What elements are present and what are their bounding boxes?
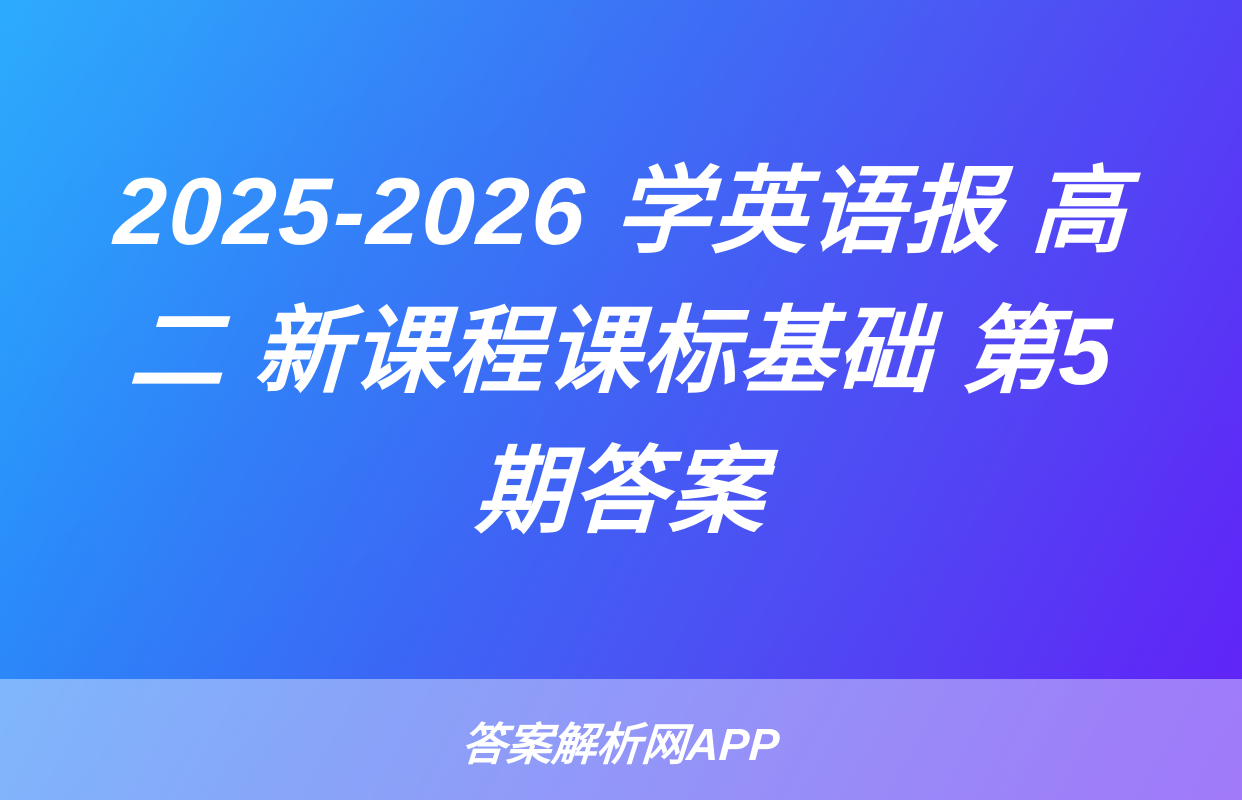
poster-card: 2025-2026 学英语报 高 二 新课程课标基础 第5 期答案 答案解析网A…: [0, 0, 1242, 800]
poster-title-block: 2025-2026 学英语报 高 二 新课程课标基础 第5 期答案: [0, 0, 1242, 679]
app-brand-label: 答案解析网APP: [460, 708, 782, 773]
title-line-3: 期答案: [473, 422, 769, 562]
footer-banner: 答案解析网APP: [0, 679, 1242, 800]
title-line-1: 2025-2026 学英语报 高: [111, 142, 1130, 282]
title-line-2: 二 新课程课标基础 第5: [126, 282, 1116, 422]
